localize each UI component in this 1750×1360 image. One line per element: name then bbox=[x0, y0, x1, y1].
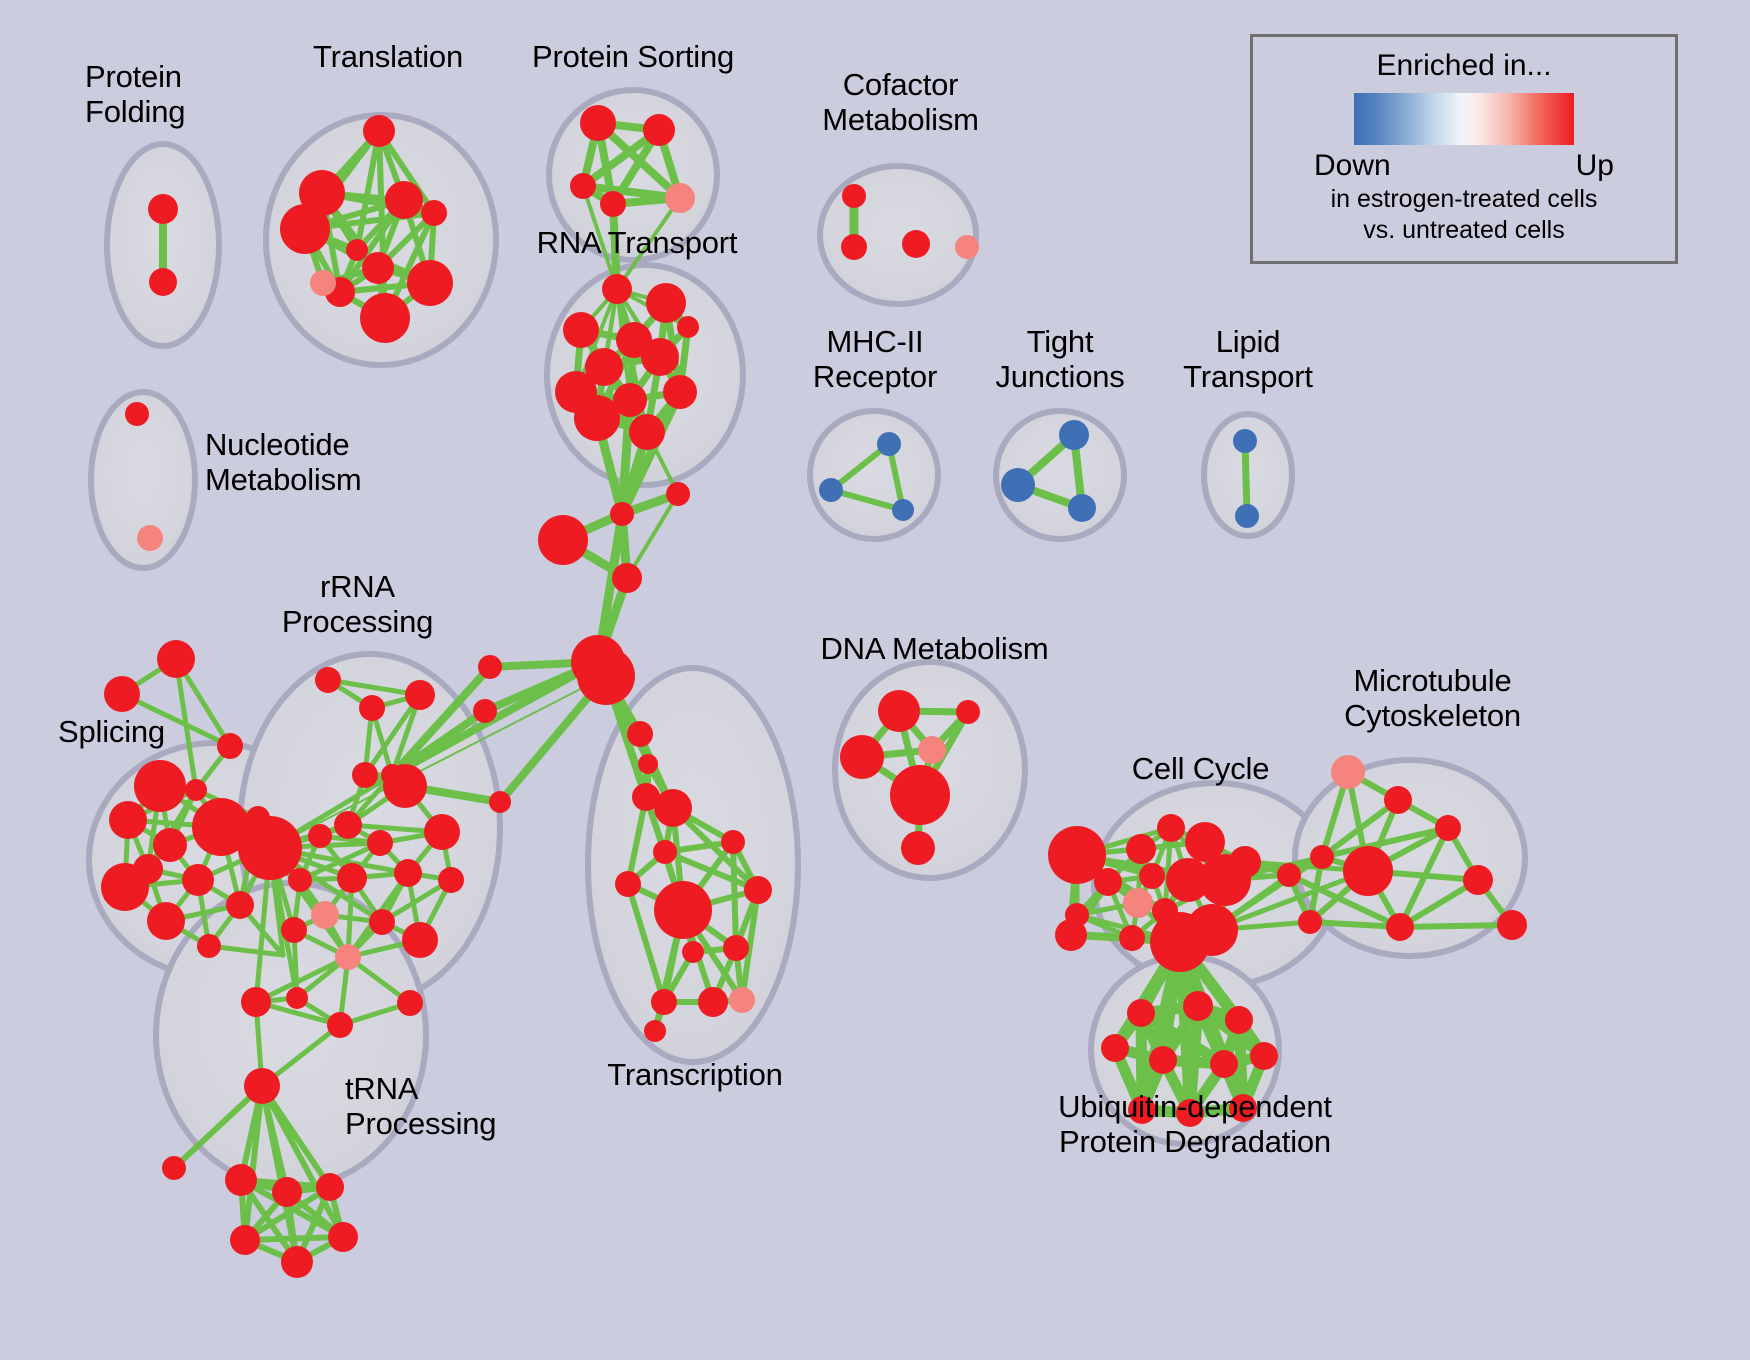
cluster-label-nucleotide: Nucleotide Metabolism bbox=[205, 428, 445, 497]
legend-endpoints: Down Up bbox=[1314, 149, 1614, 183]
cluster-label-cofactor: Cofactor Metabolism bbox=[798, 68, 1003, 137]
cluster-label-transcription: Transcription bbox=[580, 1058, 810, 1093]
legend-subtitle-line1: in estrogen-treated cells bbox=[1331, 185, 1598, 214]
cluster-label-tight-junctions: Tight Junctions bbox=[970, 325, 1150, 394]
legend-title: Enriched in... bbox=[1376, 49, 1551, 83]
legend-subtitle-line2: vs. untreated cells bbox=[1363, 216, 1565, 245]
cluster-label-microtubule: Microtubule Cytoskeleton bbox=[1300, 664, 1565, 733]
cluster-label-protein-folding: Protein Folding bbox=[85, 60, 285, 129]
cluster-label-rrna-processing: rRNA Processing bbox=[250, 570, 465, 639]
legend-down-label: Down bbox=[1314, 149, 1391, 183]
cluster-label-mhc-ii: MHC-II Receptor bbox=[780, 325, 970, 394]
blob-mhc-ii bbox=[810, 411, 938, 539]
legend: Enriched in... Down Up in estrogen-treat… bbox=[1250, 34, 1678, 264]
legend-up-label: Up bbox=[1576, 149, 1614, 183]
cluster-label-splicing: Splicing bbox=[58, 715, 218, 750]
cluster-label-trna-processing: tRNA Processing bbox=[345, 1072, 565, 1141]
cluster-label-lipid-transport: Lipid Transport bbox=[1158, 325, 1338, 394]
cluster-label-cell-cycle: Cell Cycle bbox=[1108, 752, 1293, 787]
cluster-label-rna-transport: RNA Transport bbox=[512, 226, 762, 261]
cluster-label-ubiquitin: Ubiquitin-dependent Protein Degradation bbox=[1000, 1090, 1390, 1159]
blob-cofactor bbox=[820, 166, 976, 304]
cluster-label-protein-sorting: Protein Sorting bbox=[508, 40, 758, 75]
network-figure: Protein Folding Translation Protein Sort… bbox=[0, 0, 1750, 1360]
cluster-label-dna-metabolism: DNA Metabolism bbox=[812, 632, 1057, 667]
legend-color-gradient bbox=[1354, 93, 1574, 145]
cluster-label-translation: Translation bbox=[288, 40, 488, 75]
